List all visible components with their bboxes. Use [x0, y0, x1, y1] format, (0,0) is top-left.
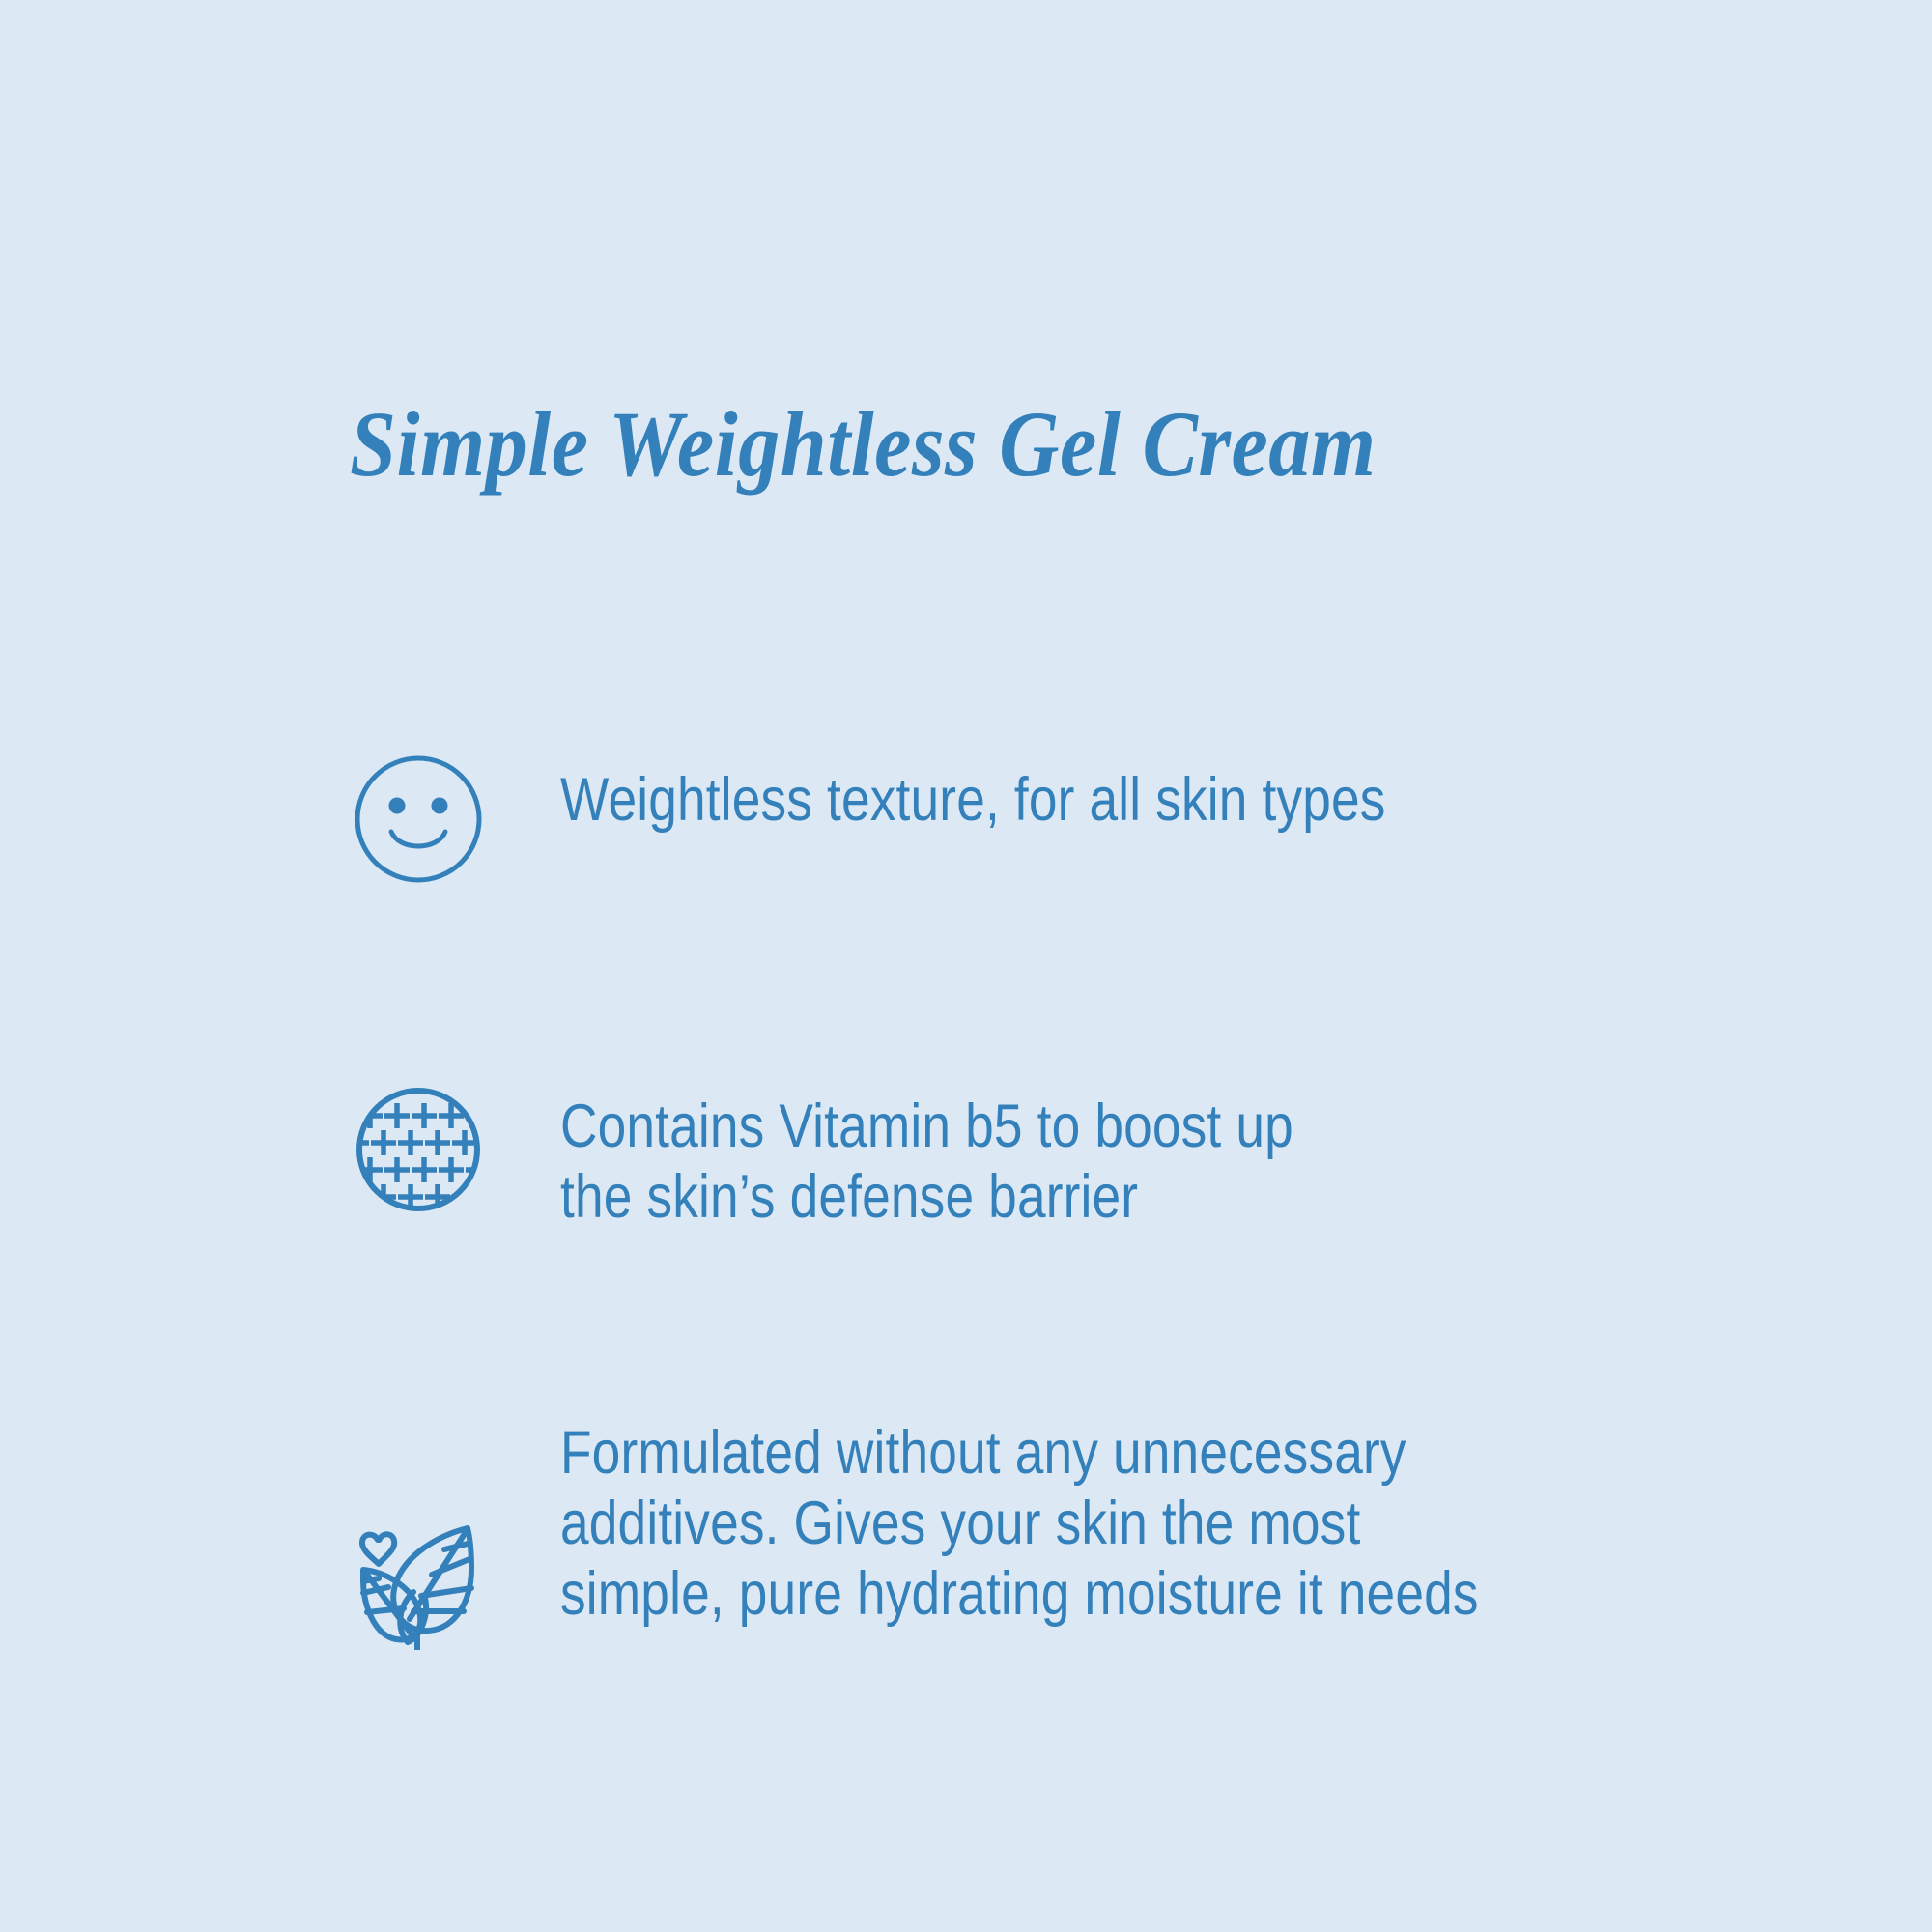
- feature-item: Formulated without any unnecessary addit…: [350, 1418, 1818, 1630]
- feature-list: Weightless texture, for all skin types: [350, 744, 1818, 1630]
- feature-item: Contains Vitamin b5 to boost up the skin…: [350, 1074, 1818, 1233]
- feature-item: Weightless texture, for all skin types: [350, 744, 1818, 879]
- page-title: Simple Weightless Gel Cream: [350, 398, 1377, 491]
- feature-item-label: Weightless texture, for all skin types: [560, 744, 1623, 836]
- plus-grid-circle-icon: [350, 1074, 560, 1209]
- product-infographic-poster: Simple Weightless Gel Cream Weightless t…: [0, 0, 1932, 1932]
- smiley-face-icon: [350, 744, 560, 879]
- leaf-heart-icon: [350, 1418, 560, 1553]
- feature-item-label: Formulated without any unnecessary addit…: [560, 1418, 1623, 1630]
- feature-item-label: Contains Vitamin b5 to boost up the skin…: [560, 1074, 1623, 1233]
